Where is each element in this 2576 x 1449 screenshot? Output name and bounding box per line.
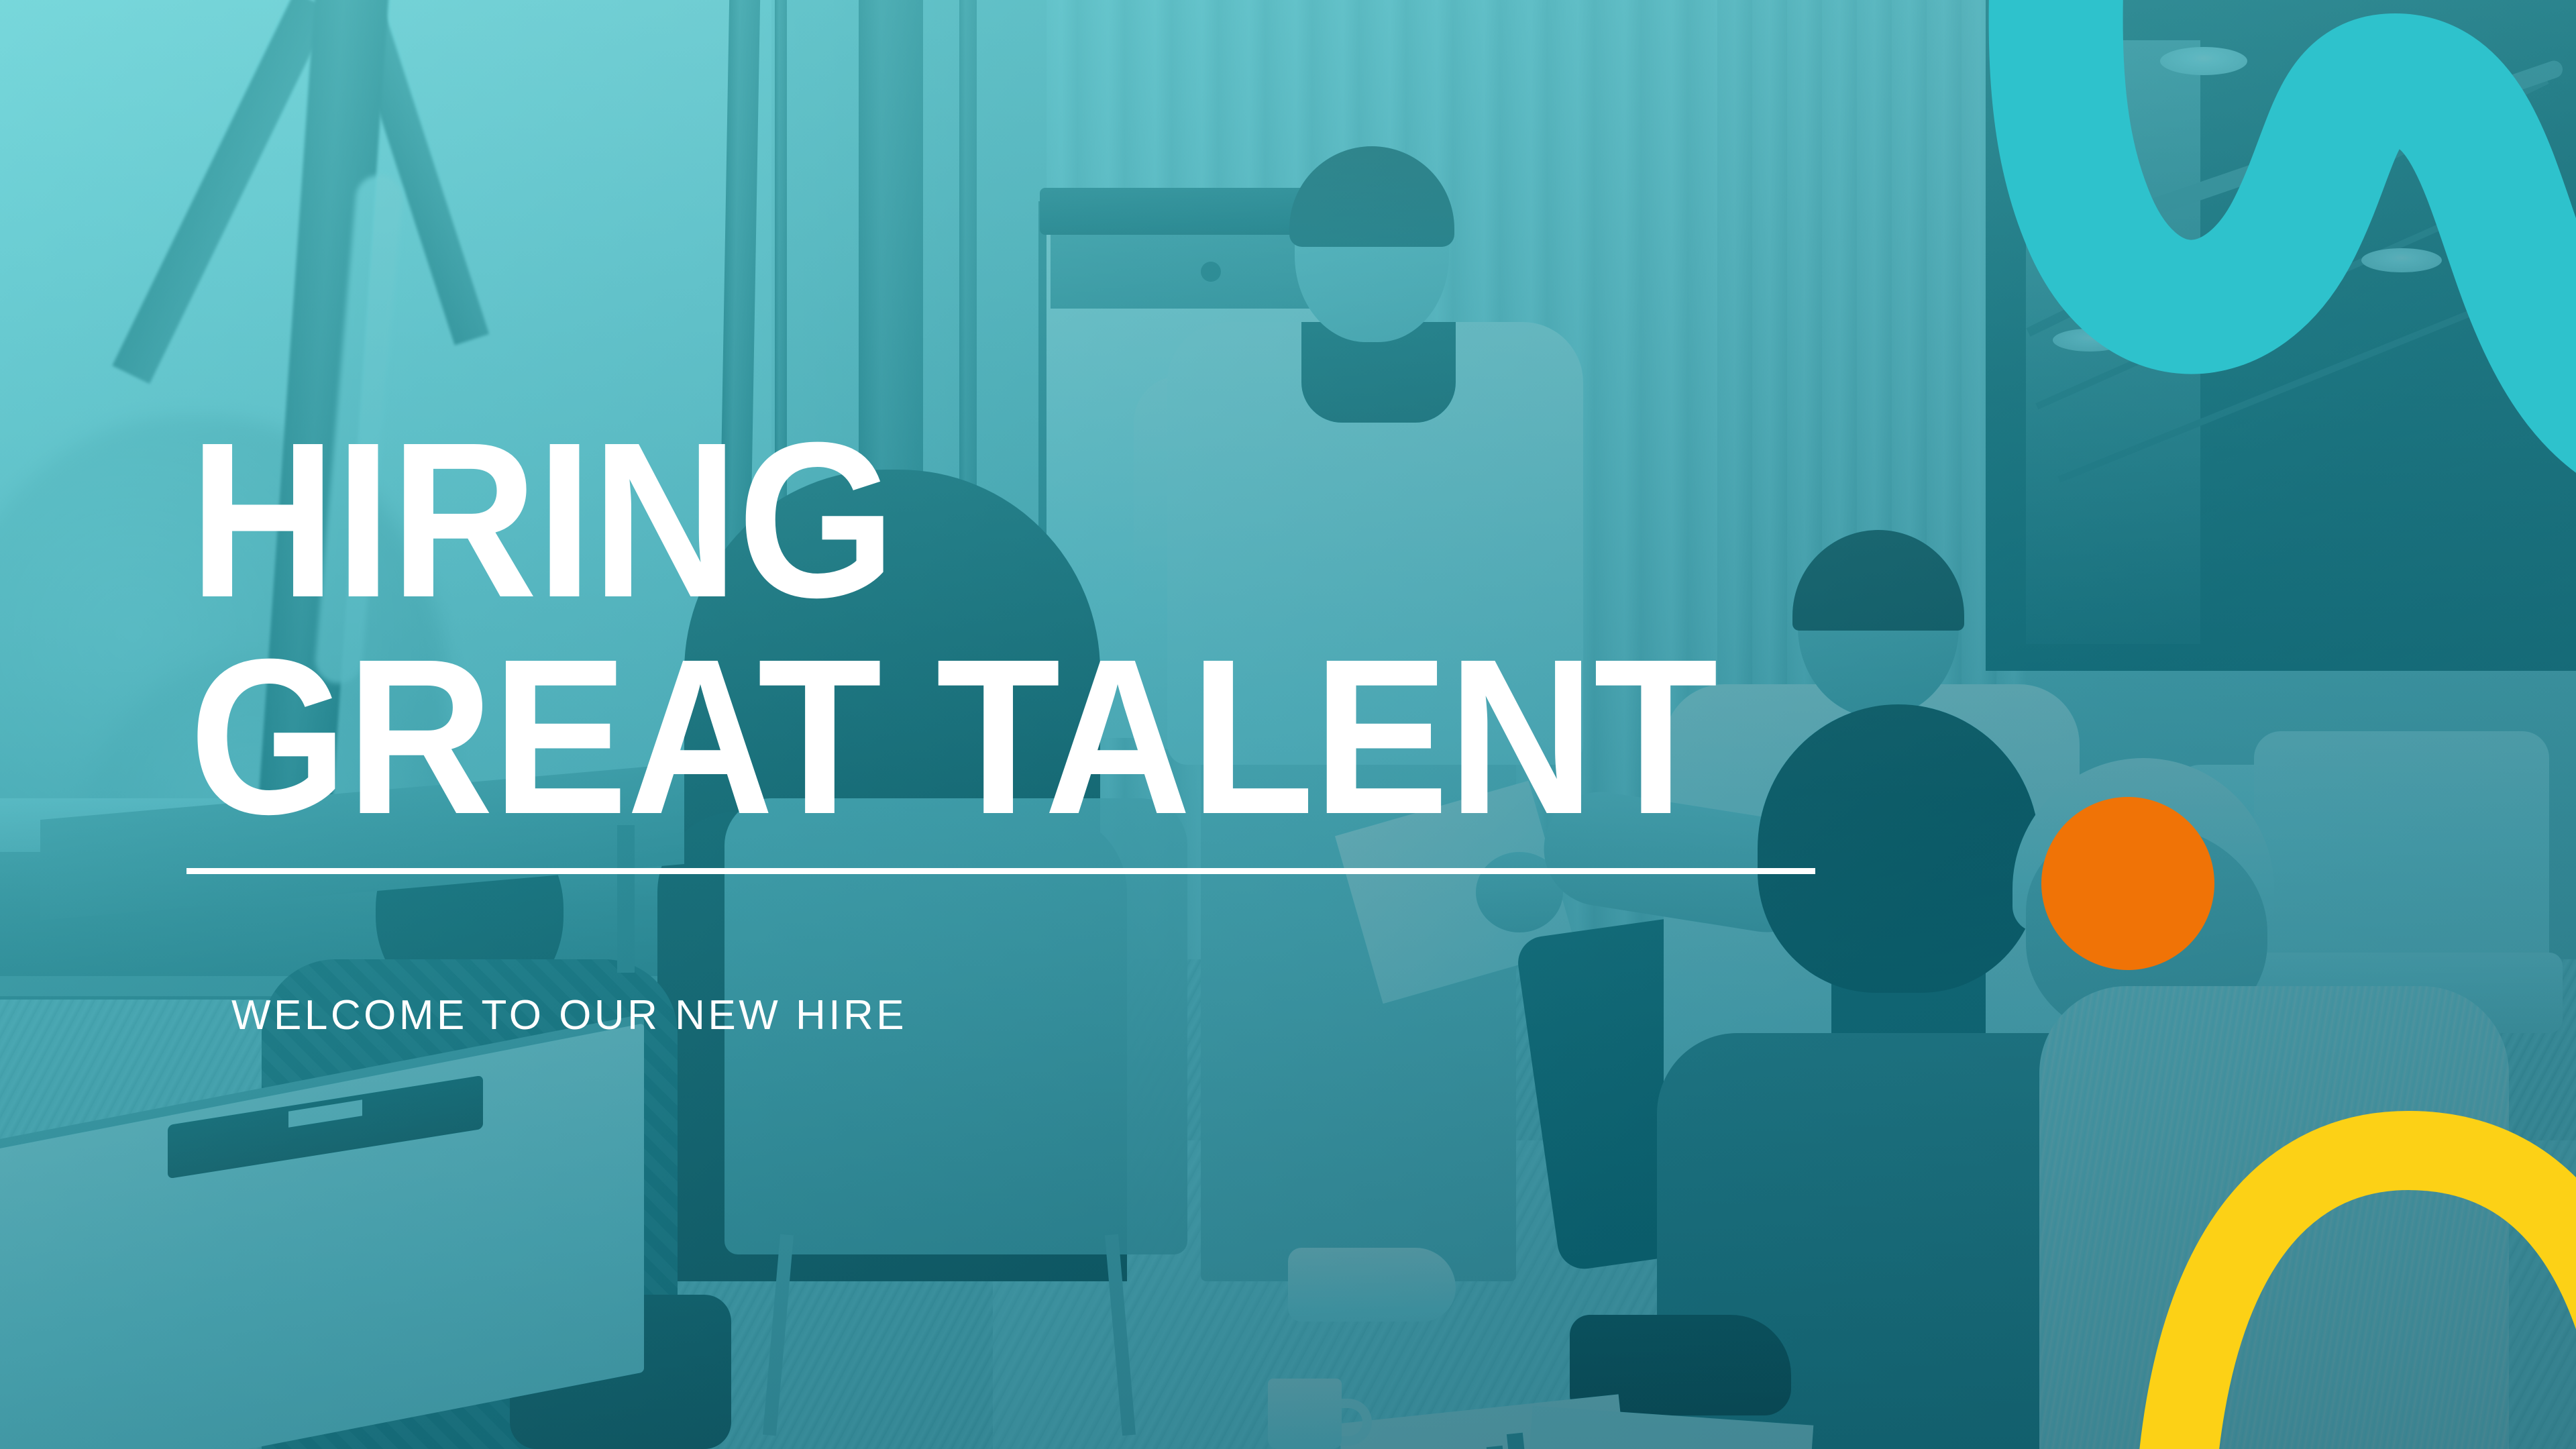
page-title: HIRING GREAT TALENT xyxy=(189,411,1717,845)
hiring-banner: HIRING GREAT TALENT WELCOME TO OUR NEW H… xyxy=(0,0,2576,1449)
headline-line-2: GREAT TALENT xyxy=(189,628,1717,845)
white-horizontal-rule xyxy=(186,868,1815,874)
banner-content: HIRING GREAT TALENT WELCOME TO OUR NEW H… xyxy=(0,0,2576,1449)
banner-subtitle: WELCOME TO OUR NEW HIRE xyxy=(231,991,907,1039)
headline-line-1: HIRING xyxy=(189,411,1717,628)
